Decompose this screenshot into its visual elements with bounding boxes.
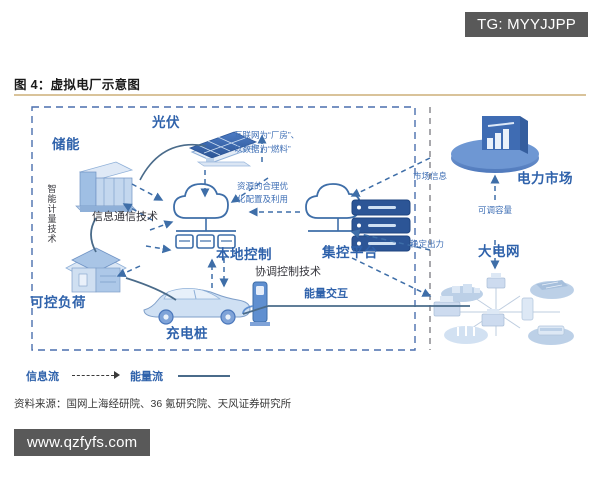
legend-label-info-flow: 信息流 xyxy=(26,368,59,384)
node-label-pv: 光伏 xyxy=(152,116,180,130)
node-label-charging-pile: 充电桩 xyxy=(166,327,208,341)
telegram-watermark-badge: TG: MYYJJPP xyxy=(465,12,588,37)
electric-vehicle-icon xyxy=(144,288,250,324)
legend-label-energy-flow: 能量流 xyxy=(130,368,163,384)
annotation-smart-metering: 智能计量技术 xyxy=(46,184,55,244)
node-label-local-control: 本地控制 xyxy=(216,248,272,262)
node-label-controllable-load: 可控负荷 xyxy=(30,296,86,310)
central-platform-icon xyxy=(306,184,410,251)
site-watermark-badge: www.qzfyfs.com xyxy=(14,429,150,456)
annotation-coordinated-control: 协调控制技术 xyxy=(255,267,321,279)
power-market-icon xyxy=(451,116,539,173)
node-label-storage: 储能 xyxy=(52,138,80,152)
node-label-main-grid: 大电网 xyxy=(478,245,520,259)
title-divider xyxy=(14,94,586,96)
annotation-stable-output: 稳定出力 xyxy=(410,240,444,249)
energy-storage-icon xyxy=(76,162,136,212)
controllable-load-icon xyxy=(66,248,126,292)
annotation-adjustable-capacity: 可调容量 xyxy=(478,206,512,215)
annotation-internet-factory-line1: 互联网为“厂房”、 xyxy=(234,131,299,140)
annotation-market-info: 市场信息 xyxy=(413,172,447,181)
legend-dashed-line xyxy=(72,375,114,376)
annotation-energy-interaction: 能量交互 xyxy=(304,289,348,301)
annotation-resource-line1: 资源的合理优 xyxy=(237,182,288,191)
annotation-ict: 信息通信技术 xyxy=(92,212,158,224)
main-grid-network-icon xyxy=(434,273,574,345)
node-label-power-market: 电力市场 xyxy=(517,172,573,186)
figure-title: 图 4：虚拟电厂示意图 xyxy=(14,74,140,93)
virtual-power-plant-diagram: 光伏 储能 可控负荷 充电桩 本地控制 集控平台 电力市场 大电网 智能计量技术… xyxy=(0,100,600,390)
annotation-resource-line2: 化配置及利用 xyxy=(237,195,288,204)
node-label-central-platform: 集控平台 xyxy=(322,246,378,260)
local-control-cloud-icon xyxy=(174,184,236,248)
figure-source: 资料来源：国网上海经研院、36 氪研究院、天风证券研究所 xyxy=(14,396,291,411)
annotation-internet-factory-line2: 以数据为“燃料” xyxy=(234,145,291,154)
legend-arrow-icon xyxy=(114,371,120,379)
legend-solid-line xyxy=(178,375,230,377)
